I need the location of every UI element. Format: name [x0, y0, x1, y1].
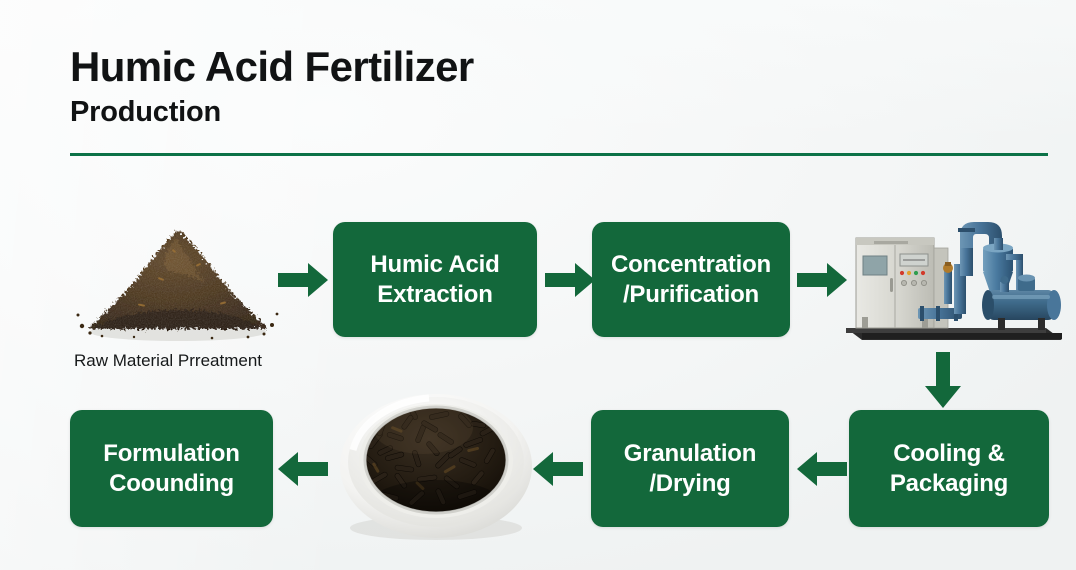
- arrow-granulation-to-granules: [533, 452, 583, 486]
- arrow-equipment-to-cooling: [925, 352, 961, 408]
- process-box-humic-acid-extraction[interactable]: Humic Acid Extraction: [333, 222, 537, 337]
- arrow-granules-to-formulation: [278, 452, 328, 486]
- title-subtitle: Production: [70, 98, 474, 127]
- granule-bowl-image: [333, 388, 539, 548]
- caption-raw-material: Raw Material Prreatment: [74, 351, 262, 371]
- process-box-cooling-packaging[interactable]: Cooling & Packaging: [849, 410, 1049, 527]
- process-box-label: Humic Acid Extraction: [370, 250, 499, 309]
- title-divider: [70, 153, 1048, 156]
- page-title: Humic Acid Fertilizer Production: [70, 46, 474, 127]
- arrow-concentration-to-equipment: [797, 263, 847, 297]
- title-main: Humic Acid Fertilizer: [70, 46, 474, 88]
- process-box-formulation-coounding[interactable]: Formulation Coounding: [70, 410, 273, 527]
- process-box-label: Granulation /Drying: [624, 439, 756, 498]
- process-box-label: Formulation Coounding: [103, 439, 239, 498]
- arrow-extraction-to-concentration: [545, 263, 595, 297]
- soil-pile-image: [72, 216, 282, 346]
- process-box-concentration-purification[interactable]: Concentration /Purification: [592, 222, 790, 337]
- process-box-label: Cooling & Packaging: [890, 439, 1008, 498]
- arrow-cooling-to-granulation: [797, 452, 847, 486]
- infographic-canvas: Humic Acid Fertilizer Production: [0, 0, 1076, 570]
- arrow-raw-to-extraction: [278, 263, 328, 297]
- process-box-granulation-drying[interactable]: Granulation /Drying: [591, 410, 789, 527]
- process-box-label: Concentration /Purification: [611, 250, 771, 309]
- industrial-equipment-image: [840, 212, 1068, 352]
